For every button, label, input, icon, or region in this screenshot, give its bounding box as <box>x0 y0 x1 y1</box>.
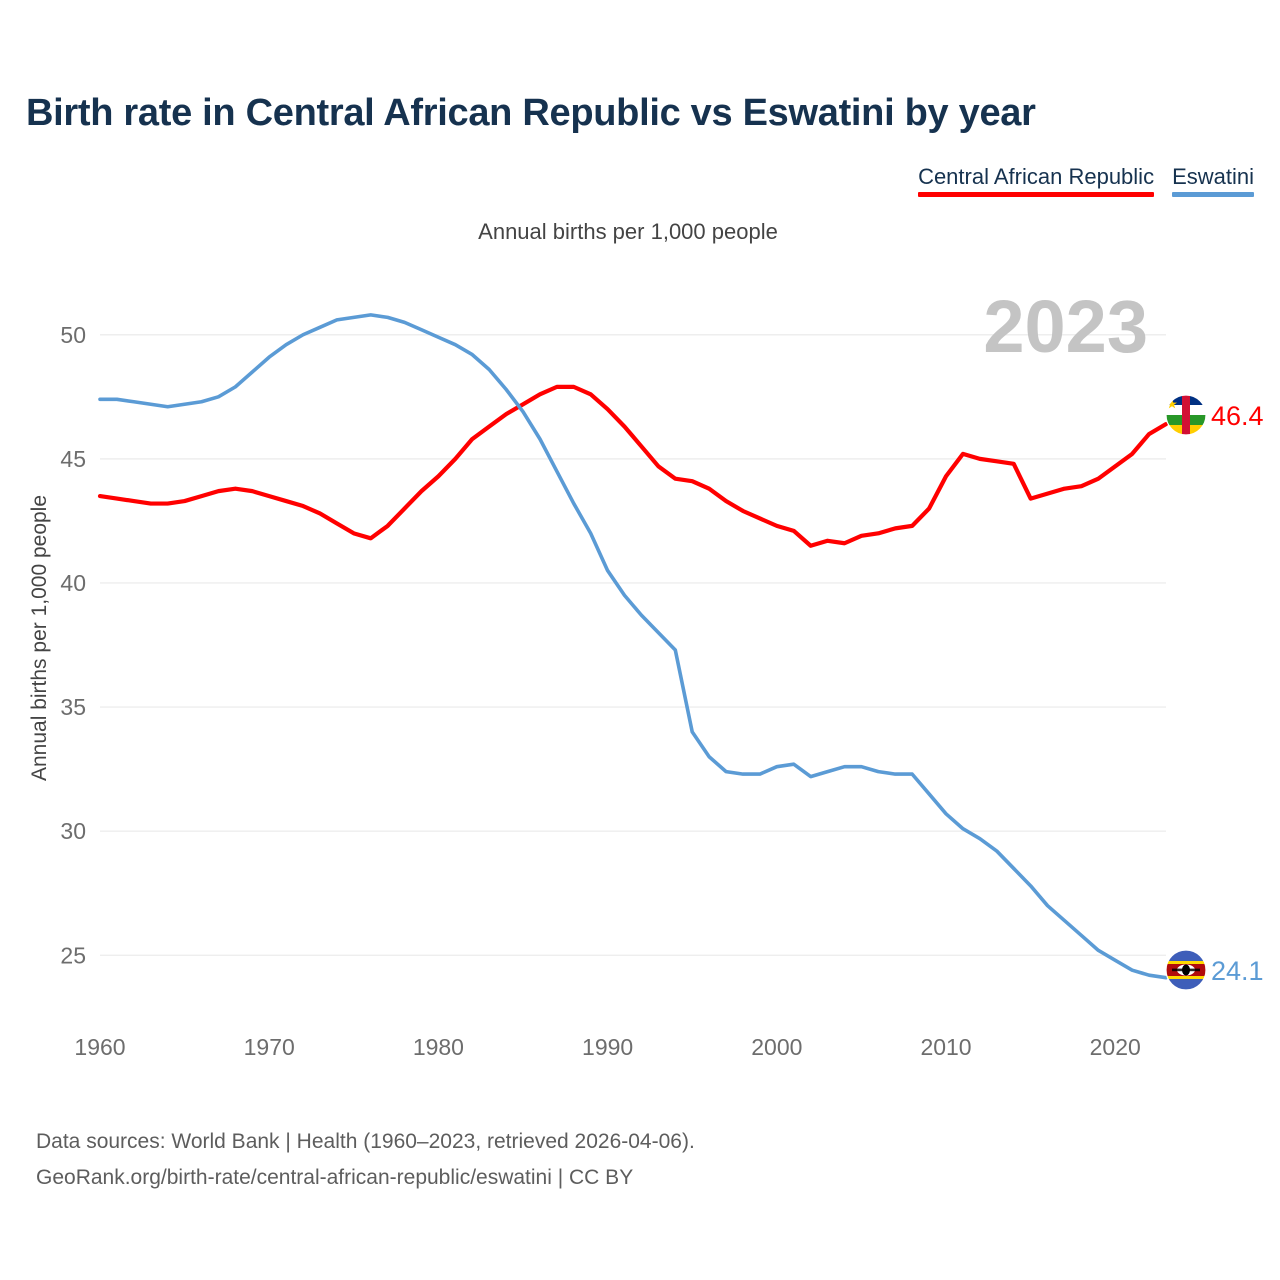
series-line-central-african-republic <box>100 387 1166 546</box>
line-chart-svg: 253035404550 196019701980199020002010202… <box>0 0 1280 1280</box>
footer-attribution: GeoRank.org/birth-rate/central-african-r… <box>36 1160 695 1196</box>
series-line-eswatini <box>100 315 1166 978</box>
footer-data-sources: Data sources: World Bank | Health (1960–… <box>36 1124 695 1160</box>
endpoint-value-central-african-republic: 46.4 <box>1211 401 1264 431</box>
central-african-republic-flag-icon <box>1166 395 1206 435</box>
y-tick-35: 35 <box>60 694 86 720</box>
x-axis-tick-labels: 1960197019801990200020102020 <box>74 1034 1140 1060</box>
x-tick-2010: 2010 <box>920 1034 971 1060</box>
x-tick-2000: 2000 <box>751 1034 802 1060</box>
y-axis-title: Annual births per 1,000 people <box>28 495 51 781</box>
x-tick-1990: 1990 <box>582 1034 633 1060</box>
chart-page: Birth rate in Central African Republic v… <box>0 0 1280 1280</box>
y-tick-30: 30 <box>60 818 86 844</box>
year-watermark: 2023 <box>983 285 1148 368</box>
y-tick-40: 40 <box>60 570 86 596</box>
y-tick-45: 45 <box>60 446 86 472</box>
x-tick-1960: 1960 <box>74 1034 125 1060</box>
plot-area: 253035404550 196019701980199020002010202… <box>0 0 1280 1280</box>
y-tick-25: 25 <box>60 942 86 968</box>
eswatini-flag-icon <box>1166 950 1206 990</box>
x-tick-1970: 1970 <box>244 1034 295 1060</box>
y-tick-50: 50 <box>60 322 86 348</box>
x-tick-2020: 2020 <box>1090 1034 1141 1060</box>
endpoint-value-eswatini: 24.1 <box>1211 956 1264 986</box>
x-tick-1980: 1980 <box>413 1034 464 1060</box>
footer: Data sources: World Bank | Health (1960–… <box>36 1124 695 1196</box>
y-axis-tick-labels: 253035404550 <box>60 322 86 969</box>
